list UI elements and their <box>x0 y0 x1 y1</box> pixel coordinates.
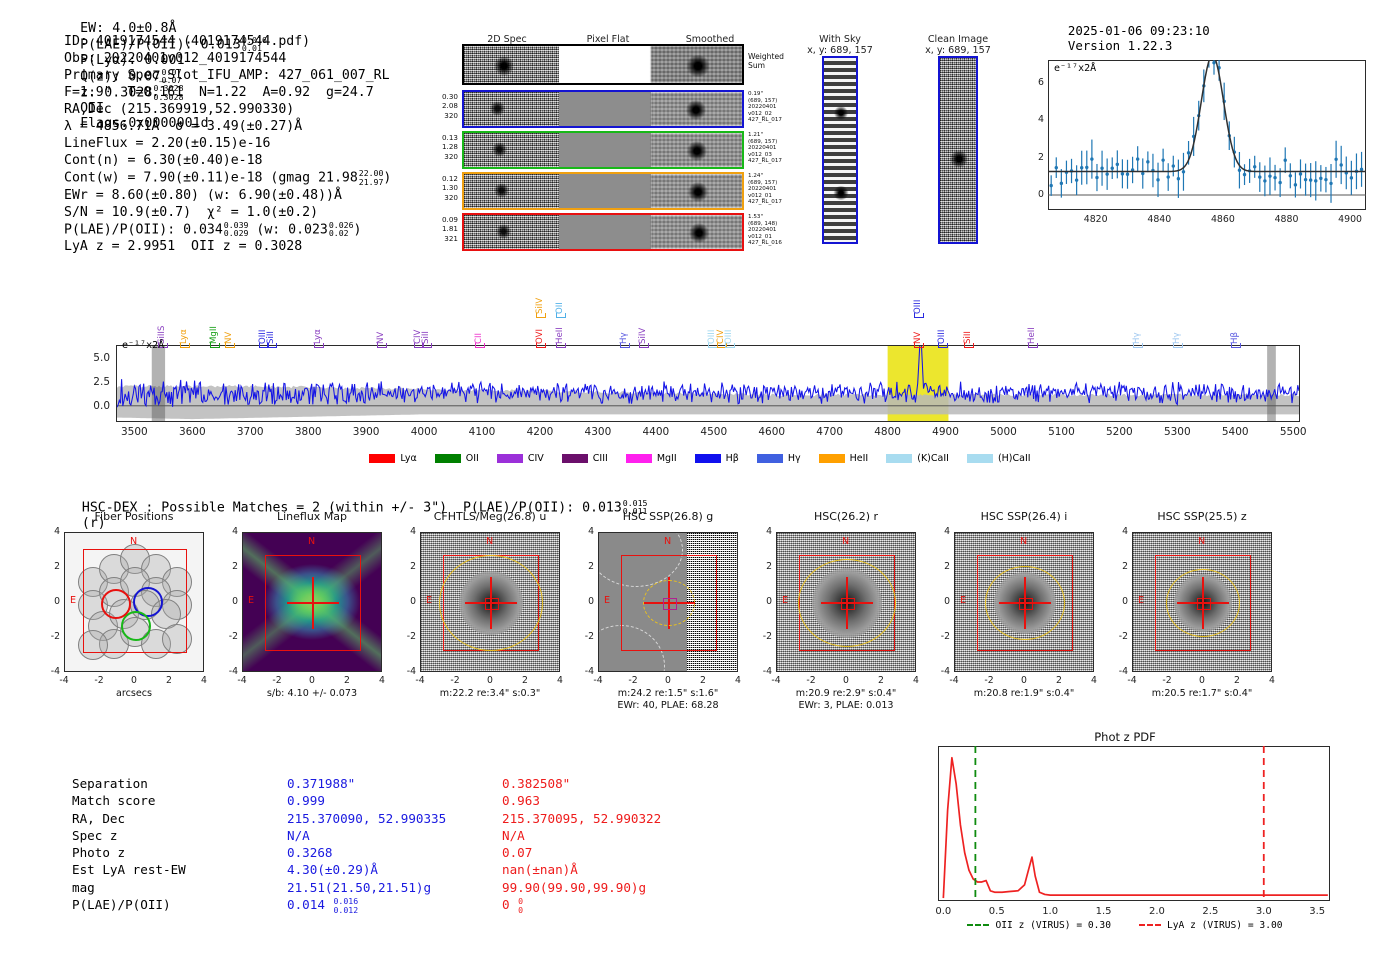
match-table-match2: 0.382508"0.963215.370095, 52.990322N/A0.… <box>502 775 661 914</box>
cutout-title: HSC SSP(26.4) i <box>936 510 1112 523</box>
cutout-caption-secondary: EWr: 40, PLAE: 68.28 <box>574 700 762 713</box>
legend-item: MgII <box>626 453 677 464</box>
match-table-match1: 0.371988"0.999215.370090, 52.990335N/A0.… <box>287 775 446 914</box>
axis-tick: -2 <box>1155 675 1179 686</box>
axis-tick: 5500 <box>1271 426 1315 438</box>
cutout-caption: m:20.9 re:2.9" s:0.4" <box>752 688 940 701</box>
emission-line-label: SiII <box>266 306 276 344</box>
cutout-caption: m:24.2 re:1.5" s:1.6" <box>574 688 762 701</box>
axis-tick: 0 <box>478 675 502 686</box>
emission-line-bracket <box>210 343 220 348</box>
axis-tick: 0 <box>1012 675 1036 686</box>
legend-item: OII z (VIRUS) = 0.30 <box>967 920 1111 931</box>
match-table-cell: 0.382508" <box>502 775 661 792</box>
legend-swatch <box>369 454 395 463</box>
legend-swatch <box>819 454 845 463</box>
axis-tick: -4 <box>220 666 238 677</box>
axis-tick: -4 <box>754 666 772 677</box>
axis-tick: 2 <box>398 561 416 572</box>
full-spectrum-units-label: e⁻¹⁷x2Å <box>122 340 164 351</box>
axis-tick: 4200 <box>518 426 562 438</box>
axis-tick: 4 <box>398 526 416 537</box>
axis-tick: 2 <box>157 675 181 686</box>
axis-tick: 2.5 <box>62 376 110 388</box>
emission-line-label: HeII <box>1027 306 1037 344</box>
match-table-cell: nan(±nan)Å <box>502 861 661 878</box>
cutout-caption: m:20.8 re:1.9" s:0.4" <box>930 688 1118 701</box>
emission-line-bracket <box>536 343 546 348</box>
legend-dash <box>967 924 989 926</box>
emission-line-label: Hγ <box>1172 306 1182 344</box>
axis-tick: 4000 <box>402 426 446 438</box>
axis-tick: 2 <box>1225 675 1249 686</box>
source-ellipse <box>1166 569 1240 637</box>
axis-tick: -2 <box>87 675 111 686</box>
axis-tick: 2 <box>576 561 594 572</box>
legend-item: (K)CaII <box>886 453 949 464</box>
axis-tick: -2 <box>220 631 238 642</box>
emission-line-bracket <box>938 343 948 348</box>
cutout-image[interactable] <box>598 532 738 672</box>
axis-tick: -4 <box>576 666 594 677</box>
axis-tick: 4 <box>932 526 950 537</box>
legend-label: CIII <box>593 453 608 464</box>
emission-line-bracket <box>180 343 190 348</box>
clean-image-xy: x, y: 689, 157 <box>898 45 1018 56</box>
info-radec: RA,Dec (215.369919,52.990330) <box>64 101 391 118</box>
legend-item: Hγ <box>757 453 801 464</box>
axis-tick: 0 <box>300 675 324 686</box>
emission-line-label: Lyα <box>179 306 189 344</box>
axis-tick: 0.0 <box>62 400 110 412</box>
match-table-cell: 4.30(±0.29)Å <box>287 861 446 878</box>
axis-tick: -2 <box>754 631 772 642</box>
match-table-cell: 215.370090, 52.990335 <box>287 810 446 827</box>
axis-tick: -2 <box>932 631 950 642</box>
match-table-cell: 0.371988" <box>287 775 446 792</box>
axis-tick: 0 <box>1190 675 1214 686</box>
legend-dash <box>1139 924 1161 926</box>
axis-tick: 5100 <box>1039 426 1083 438</box>
source-ellipse <box>985 566 1065 640</box>
emission-line-label: SiIIS <box>157 306 167 344</box>
axis-tick: -2 <box>621 675 645 686</box>
spec2d-row-info: 1.21"(689, 157)20220401v012_03427_RL_017 <box>748 132 782 165</box>
info-seeing: F=1.9" T=0.161 N=1.22 A=0.92 g=24.7 <box>64 84 391 101</box>
axis-tick: 0 <box>834 675 858 686</box>
match-table-cell: N/A <box>287 827 446 844</box>
axis-tick: 2 <box>220 561 238 572</box>
spec2d-row <box>462 172 744 210</box>
axis-tick: 4820 <box>1082 214 1110 225</box>
cutout-title: Fiber Positions <box>46 510 222 523</box>
emission-line-bracket <box>314 343 324 348</box>
info-ewr: EWr = 8.60(±0.80) (w: 6.90(±0.48))Å <box>64 187 391 204</box>
crosshair-vertical <box>312 577 313 629</box>
cutout-title: HSC SSP(25.5) z <box>1114 510 1290 523</box>
clean-image-title: Clean Image <box>898 34 1018 45</box>
axis-tick: 4500 <box>692 426 736 438</box>
axis-tick: 0 <box>932 596 950 607</box>
axis-tick: 4100 <box>460 426 504 438</box>
north-marker: N <box>1198 536 1205 547</box>
axis-tick: 3700 <box>228 426 272 438</box>
axis-tick: 0 <box>656 675 680 686</box>
match-table-cell: 0.963 <box>502 792 661 809</box>
legend-swatch <box>435 454 461 463</box>
axis-tick: 5300 <box>1155 426 1199 438</box>
axis-tick: 5000 <box>982 426 1026 438</box>
info-obs: Obs: 20220401v012_4019174544 <box>64 50 391 67</box>
match-table-cell: N/A <box>502 827 661 844</box>
emission-line-bracket <box>556 313 566 318</box>
axis-tick: 4 <box>904 675 928 686</box>
axis-tick: 4 <box>1082 675 1106 686</box>
axis-tick: 2 <box>932 561 950 572</box>
emission-line-bracket <box>1133 343 1143 348</box>
axis-tick: 4 <box>754 526 772 537</box>
north-marker: N <box>664 536 671 547</box>
cutout-caption-secondary: EWr: 3, PLAE: 0.013 <box>752 700 940 713</box>
info-id: ID: 4019174544 (4019174544.pdf) <box>64 33 391 50</box>
axis-tick: 3800 <box>286 426 330 438</box>
emission-line-label: MgII <box>209 306 219 344</box>
spec2d-row-metrics: 0.121.30320 <box>424 174 458 202</box>
axis-tick: 4700 <box>808 426 852 438</box>
with-sky-xy: x, y: 689, 157 <box>790 45 890 56</box>
axis-tick: 4 <box>192 675 216 686</box>
axis-tick: 5200 <box>1097 426 1141 438</box>
match-table-row-label: Est LyA rest-EW <box>72 861 186 878</box>
axis-tick: 1.0 <box>1034 906 1066 917</box>
emission-line-label: SiII <box>963 306 973 344</box>
phot-z-title: Phot z PDF <box>900 730 1350 744</box>
match-table-row-label: P(LAE)/P(OII) <box>72 896 186 913</box>
axis-tick: 4880 <box>1273 214 1301 225</box>
source-ellipse <box>798 559 896 647</box>
phot-z-canvas <box>938 746 1330 901</box>
east-marker: E <box>70 595 76 606</box>
axis-tick: 2 <box>513 675 537 686</box>
north-marker: N <box>1020 536 1027 547</box>
emission-line-label: CII <box>474 306 484 344</box>
emission-line-label: OIII <box>913 276 923 314</box>
emission-line-bracket <box>1231 343 1241 348</box>
emission-line-bracket <box>1028 343 1038 348</box>
legend-item: (H)CaII <box>967 453 1031 464</box>
cutout-image[interactable] <box>242 532 382 672</box>
spec2d-row-info: 1.24"(689, 157)20220401v012_01427_RL_017 <box>748 173 782 206</box>
aperture-box <box>83 549 187 653</box>
axis-tick: 0 <box>122 675 146 686</box>
legend-label: (H)CaII <box>998 453 1031 464</box>
legend-label: CIV <box>528 453 544 464</box>
full-spectrum-canvas <box>117 346 1299 421</box>
cutout-caption: s/b: 4.10 +/- 0.073 <box>218 688 406 701</box>
info-continuum-wide: Cont(w) = 7.90(±0.11)e-18 (gmag 21.9822.… <box>64 169 391 186</box>
east-marker: E <box>426 595 432 606</box>
north-marker: N <box>842 536 849 547</box>
axis-tick: 2.0 <box>1141 906 1173 917</box>
cutout-image[interactable] <box>1132 532 1272 672</box>
emission-line-label: Hγ <box>1132 306 1142 344</box>
axis-tick: 2 <box>42 561 60 572</box>
emission-line-bracket <box>639 343 649 348</box>
line-fit-canvas <box>1048 60 1366 210</box>
legend-item: Hβ <box>695 453 739 464</box>
axis-tick: 4 <box>548 675 572 686</box>
north-marker: N <box>308 536 315 547</box>
legend-label: OII <box>466 453 479 464</box>
match-table-cell: 21.51(21.50,21.51)g <box>287 879 446 896</box>
axis-tick: 0.0 <box>927 906 959 917</box>
axis-tick: 0 <box>220 596 238 607</box>
cutout-caption: m:20.5 re:1.7" s:0.4" <box>1108 688 1296 701</box>
axis-tick: 2 <box>754 561 772 572</box>
axis-tick: 0 <box>1110 596 1128 607</box>
cutout-title: HSC(26.2) r <box>758 510 934 523</box>
north-marker: N <box>486 536 493 547</box>
emission-line-label: SiIV <box>535 276 545 314</box>
axis-tick: 4 <box>576 526 594 537</box>
axis-tick: 5.0 <box>62 352 110 364</box>
axis-tick: 4 <box>1024 114 1044 125</box>
line-fit-plot: e⁻¹⁷x2Å 48204840486048804900 0246 <box>1020 30 1400 260</box>
spec2d-row <box>462 213 744 251</box>
emission-line-label: Lyα <box>313 306 323 344</box>
info-continuum-narrow: Cont(n) = 6.30(±0.40)e-18 <box>64 152 391 169</box>
east-marker: E <box>782 595 788 606</box>
axis-tick: -2 <box>398 631 416 642</box>
spec2d-weighted-sum-row <box>462 44 744 85</box>
emission-line-bracket <box>536 313 546 318</box>
axis-tick: -2 <box>576 631 594 642</box>
axis-tick: -2 <box>1110 631 1128 642</box>
east-marker: E <box>960 595 966 606</box>
legend-swatch <box>626 454 652 463</box>
axis-tick: 0 <box>398 596 416 607</box>
emission-line-bracket <box>1173 343 1183 348</box>
emission-line-label: SiIV <box>638 306 648 344</box>
axis-tick: 4 <box>370 675 394 686</box>
legend-label: OII z (VIRUS) = 0.30 <box>995 920 1111 931</box>
spec2d-row <box>462 131 744 169</box>
legend-item: LyA z (VIRUS) = 3.00 <box>1139 920 1283 931</box>
info-lineflux: LineFlux = 2.20(±0.15)e-16 <box>64 135 391 152</box>
emission-line-bracket <box>475 343 485 348</box>
match-table-labels: SeparationMatch scoreRA, DecSpec zPhoto … <box>72 775 186 913</box>
emission-line-label: Hβ <box>1230 306 1240 344</box>
axis-tick: 0.5 <box>981 906 1013 917</box>
axis-tick: -4 <box>398 666 416 677</box>
emission-line-bracket <box>725 343 735 348</box>
info-redshifts: LyA z = 2.9951 OII z = 0.3028 <box>64 238 391 255</box>
legend-label: HeII <box>850 453 869 464</box>
cutout-title: HSC SSP(26.8) g <box>580 510 756 523</box>
legend-label: (K)CaII <box>917 453 949 464</box>
axis-tick: 2 <box>335 675 359 686</box>
legend-swatch <box>695 454 721 463</box>
cutout-xlabel: arcsecs <box>46 688 222 701</box>
axis-tick: 5400 <box>1213 426 1257 438</box>
emission-line-bracket <box>964 343 974 348</box>
axis-tick: 2 <box>869 675 893 686</box>
axis-tick: 1.5 <box>1088 906 1120 917</box>
emission-line-bracket <box>267 343 277 348</box>
axis-tick: 2 <box>1047 675 1071 686</box>
legend-label: MgII <box>657 453 677 464</box>
emission-line-bracket <box>620 343 630 348</box>
cutout-image[interactable] <box>776 532 916 672</box>
axis-tick: 3600 <box>170 426 214 438</box>
axis-tick: 6 <box>1024 77 1044 88</box>
match-table-row-label: Separation <box>72 775 186 792</box>
cutout-image[interactable] <box>954 532 1094 672</box>
emission-line-bracket <box>225 343 235 348</box>
axis-tick: 4600 <box>750 426 794 438</box>
emission-line-label: OIII <box>937 306 947 344</box>
legend-item: HeII <box>819 453 869 464</box>
axis-tick: 4 <box>1260 675 1284 686</box>
axis-tick: -2 <box>42 631 60 642</box>
cutout-caption: m:22.2 re:3.4" s:0.3" <box>396 688 584 701</box>
axis-tick: 2 <box>691 675 715 686</box>
legend-label: LyA z (VIRUS) = 3.00 <box>1167 920 1283 931</box>
axis-tick: 0 <box>576 596 594 607</box>
match-table-cell: 0.07 <box>502 844 661 861</box>
axis-tick: 0 <box>754 596 772 607</box>
match-table-cell: 0.014 0.0160.012 <box>287 896 446 914</box>
emission-line-bracket <box>377 343 387 348</box>
emission-line-bracket <box>914 313 924 318</box>
match-table-cell: 0.999 <box>287 792 446 809</box>
axis-tick: 4860 <box>1209 214 1237 225</box>
east-marker: E <box>248 595 254 606</box>
axis-tick: 4 <box>1110 526 1128 537</box>
axis-tick: 4900 <box>924 426 968 438</box>
legend-item: CIV <box>497 453 544 464</box>
legend-item: OII <box>435 453 479 464</box>
match-table-row-label: Photo z <box>72 844 186 861</box>
legend-swatch <box>886 454 912 463</box>
legend-swatch <box>967 454 993 463</box>
cutout-title: Lineflux Map <box>224 510 400 523</box>
emission-line-label: Hγ <box>619 306 629 344</box>
east-marker: E <box>604 595 610 606</box>
axis-tick: -4 <box>1110 666 1128 677</box>
phot-z-pdf-panel: Phot z PDF 0.00.51.01.52.02.53.03.5 OII … <box>900 730 1360 945</box>
axis-tick: 3900 <box>344 426 388 438</box>
full-spectrum-legend: LyαOIICIVCIIIMgIIHβHγHeII(K)CaII(H)CaII <box>0 453 1400 464</box>
emission-line-bracket <box>914 343 924 348</box>
axis-tick: 0 <box>1024 189 1044 200</box>
axis-tick: 2 <box>1110 561 1128 572</box>
emission-line-label: NV <box>376 306 386 344</box>
emission-line-label: OII <box>555 276 565 314</box>
emission-line-bracket <box>422 343 432 348</box>
cutout-image[interactable] <box>64 532 204 672</box>
match-table-cell: 99.90(99.90,99.90)g <box>502 879 661 896</box>
legend-swatch <box>757 454 783 463</box>
spec2d-row-metrics: 0.091.81321 <box>424 215 458 243</box>
legend-item: CIII <box>562 453 608 464</box>
legend-label: Lyα <box>400 453 416 464</box>
axis-tick: 0 <box>42 596 60 607</box>
axis-tick: -4 <box>932 666 950 677</box>
source-ellipse <box>439 555 543 651</box>
with-sky-title: With Sky <box>790 34 890 45</box>
emission-line-label: OIII <box>724 306 734 344</box>
axis-tick: 2.5 <box>1194 906 1226 917</box>
match-table-cell: 0.3268 <box>287 844 446 861</box>
spec2d-row <box>462 90 744 128</box>
axis-tick: 4840 <box>1145 214 1173 225</box>
axis-tick: 4900 <box>1336 214 1364 225</box>
phot-z-legend: OII z (VIRUS) = 0.30LyA z (VIRUS) = 3.00 <box>900 920 1350 931</box>
axis-tick: -2 <box>977 675 1001 686</box>
spec2d-row-metrics: 0.302.08320 <box>424 92 458 120</box>
emission-line-label: SiII <box>421 306 431 344</box>
match-table-cell: 0 00 <box>502 896 661 914</box>
legend-swatch <box>497 454 523 463</box>
match-table-row-label: mag <box>72 879 186 896</box>
axis-tick: -4 <box>42 666 60 677</box>
line-fit-units-label: e⁻¹⁷x2Å <box>1054 63 1096 74</box>
source-info-block: ID: 4019174544 (4019174544.pdf) Obs: 202… <box>64 33 391 255</box>
legend-swatch <box>562 454 588 463</box>
legend-label: Hβ <box>726 453 739 464</box>
axis-tick: 3500 <box>112 426 156 438</box>
axis-tick: 3.0 <box>1248 906 1280 917</box>
axis-tick: 4 <box>220 526 238 537</box>
spec2d-row-metrics: 0.131.28320 <box>424 133 458 161</box>
axis-tick: -2 <box>443 675 467 686</box>
emission-line-label: NV <box>224 306 234 344</box>
match-table-row-label: Match score <box>72 792 186 809</box>
spec2d-row-info: 0.19"(689, 157)20220401v012_02427_RL_017 <box>748 91 782 124</box>
source-ellipse <box>643 580 695 626</box>
info-primary-spec-slot: Primary Spec_Slot_IFU_AMP: 427_061_007_R… <box>64 67 391 84</box>
axis-tick: -2 <box>799 675 823 686</box>
emission-line-bracket <box>556 343 566 348</box>
axis-tick: -2 <box>265 675 289 686</box>
axis-tick: 3.5 <box>1301 906 1333 917</box>
spec2d-weighted-sum-label: WeightedSum <box>748 52 784 70</box>
cutout-title: CFHTLS/Meg(26.8) u <box>402 510 578 523</box>
axis-tick: 4 <box>42 526 60 537</box>
axis-tick: 2 <box>1024 152 1044 163</box>
axis-tick: 4300 <box>576 426 620 438</box>
info-lambda-sigma: λ = 4856.71Å σ = 3.49(±0.27)Å <box>64 118 391 135</box>
legend-label: Hγ <box>788 453 801 464</box>
axis-tick: 4400 <box>634 426 678 438</box>
info-snr-chi2: S/N = 10.9(±0.7) χ² = 1.0(±0.2) <box>64 204 391 221</box>
cutout-image[interactable] <box>420 532 560 672</box>
spec2d-row-info: 1.53"(689, 148)20220401v012_01427_RL_016 <box>748 214 782 247</box>
north-marker: N <box>130 536 137 547</box>
info-plae-poii: P(LAE)/P(OII): 0.0340.0390.029 (w: 0.023… <box>64 221 391 238</box>
match-table-row-label: RA, Dec <box>72 810 186 827</box>
east-marker: E <box>1138 595 1144 606</box>
match-table-row-label: Spec z <box>72 827 186 844</box>
match-table-cell: 215.370095, 52.990322 <box>502 810 661 827</box>
axis-tick: 4800 <box>866 426 910 438</box>
hsc-dex-summary: HSC-DEX : Possible Matches = 2 (within +… <box>66 484 647 531</box>
axis-tick: 4 <box>726 675 750 686</box>
legend-item: Lyα <box>369 453 416 464</box>
